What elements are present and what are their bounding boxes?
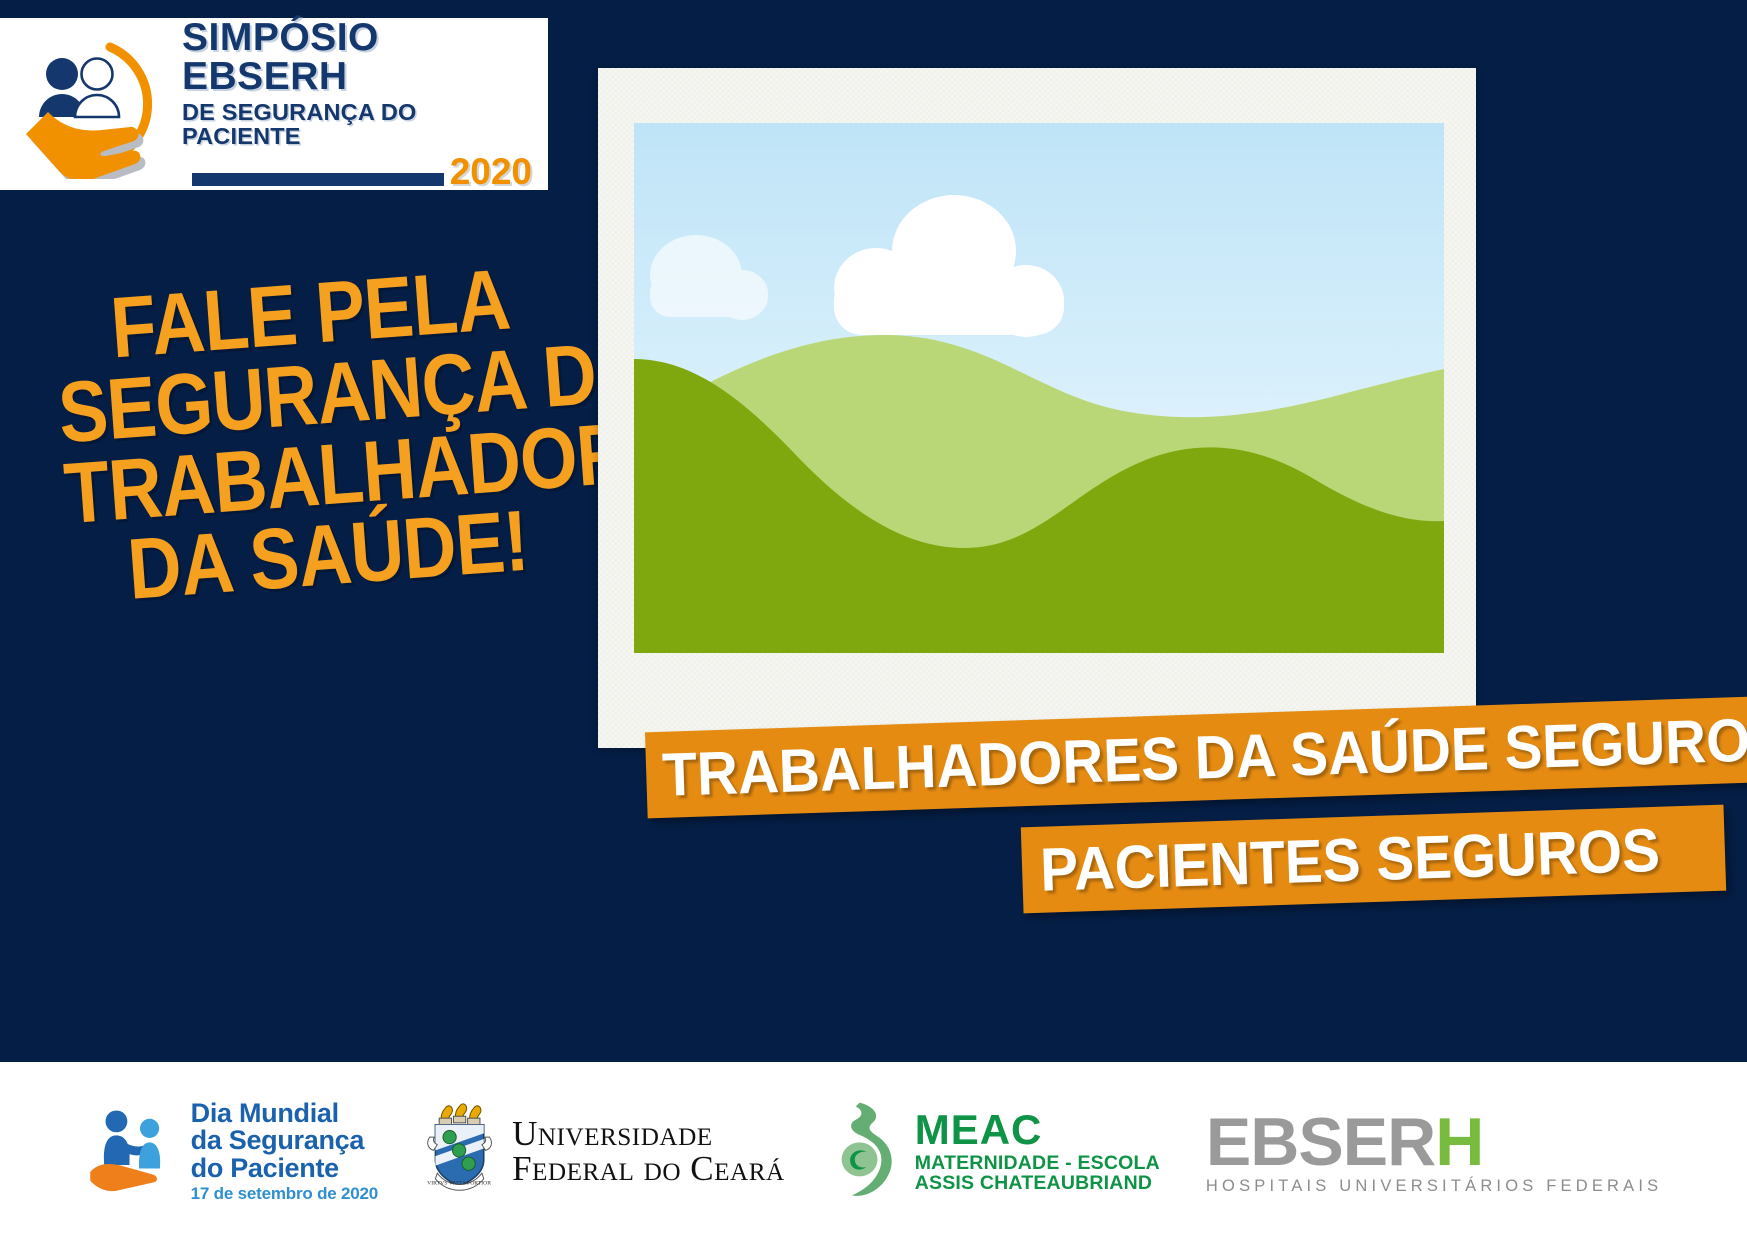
meac-sub-2: ASSIS CHATEAUBRIAND: [915, 1173, 1160, 1193]
polaroid-frame: [598, 68, 1476, 748]
dia-mundial-line-1: Dia Mundial: [191, 1100, 378, 1128]
meac-pregnant-silhouette-icon: [831, 1097, 907, 1206]
banner-line-2: PACIENTES SEGUROS: [1021, 805, 1726, 914]
landscape-photo: [634, 123, 1444, 653]
ebserh-grey-part: EBSER: [1206, 1104, 1435, 1180]
logo-subtitle: DE SEGURANÇA DO PACIENTE: [182, 101, 532, 148]
ufc-line-1: UNIVERSIDADE: [512, 1116, 785, 1151]
ufc-line-2: FEDERAL DO CEARÁ: [512, 1151, 785, 1186]
headline: FALE PELA SEGURANÇA DOS TRABALHADORES DA…: [8, 252, 630, 618]
logo-rule: [192, 173, 444, 186]
footer-logo-ufc: VIRTVS VNITA FORTIOR UNIVERSIDADE FEDERA…: [424, 1101, 785, 1201]
ebserh-wordmark: EBSERH: [1206, 1108, 1662, 1176]
footer-logo-dia-mundial: Dia Mundial da Segurança do Paciente 17 …: [85, 1100, 378, 1203]
hand-holding-two-people-icon: [14, 29, 182, 179]
cloud-small-icon: [650, 235, 768, 320]
svg-text:VIRTVS VNITA FORTIOR: VIRTVS VNITA FORTIOR: [427, 1181, 491, 1187]
dia-mundial-line-3: do Paciente: [191, 1155, 378, 1183]
dia-mundial-date: 17 de setembro de 2020: [191, 1185, 378, 1202]
cloud-large-icon: [834, 195, 1064, 337]
footer-logos: Dia Mundial da Segurança do Paciente 17 …: [0, 1062, 1747, 1240]
dia-mundial-line-2: da Segurança: [191, 1127, 378, 1155]
ebserh-green-part: H: [1435, 1104, 1483, 1180]
logo-title: SIMPÓSIO EBSERH: [182, 18, 532, 96]
footer-logo-ebserh: EBSERH HOSPITAIS UNIVERSITÁRIOS FEDERAIS: [1206, 1108, 1662, 1195]
simposio-logo-card: SIMPÓSIO EBSERH DE SEGURANÇA DO PACIENTE…: [0, 18, 548, 190]
footer-logo-meac: MEAC MATERNIDADE - ESCOLA ASSIS CHATEAUB…: [831, 1097, 1160, 1206]
banner-line-2-text: PACIENTES SEGUROS: [1039, 815, 1661, 905]
two-people-on-hand-icon: [85, 1102, 181, 1199]
ebserh-tagline: HOSPITAIS UNIVERSITÁRIOS FEDERAIS: [1206, 1178, 1662, 1195]
meac-title: MEAC: [915, 1108, 1160, 1152]
meac-sub-1: MATERNIDADE - ESCOLA: [915, 1153, 1160, 1173]
ufc-coat-of-arms-icon: VIRTVS VNITA FORTIOR: [424, 1101, 498, 1201]
logo-year: 2020: [450, 153, 532, 190]
poster-canvas: SIMPÓSIO EBSERH DE SEGURANÇA DO PACIENTE…: [0, 0, 1747, 1240]
logo-year-row: 2020: [182, 153, 532, 190]
